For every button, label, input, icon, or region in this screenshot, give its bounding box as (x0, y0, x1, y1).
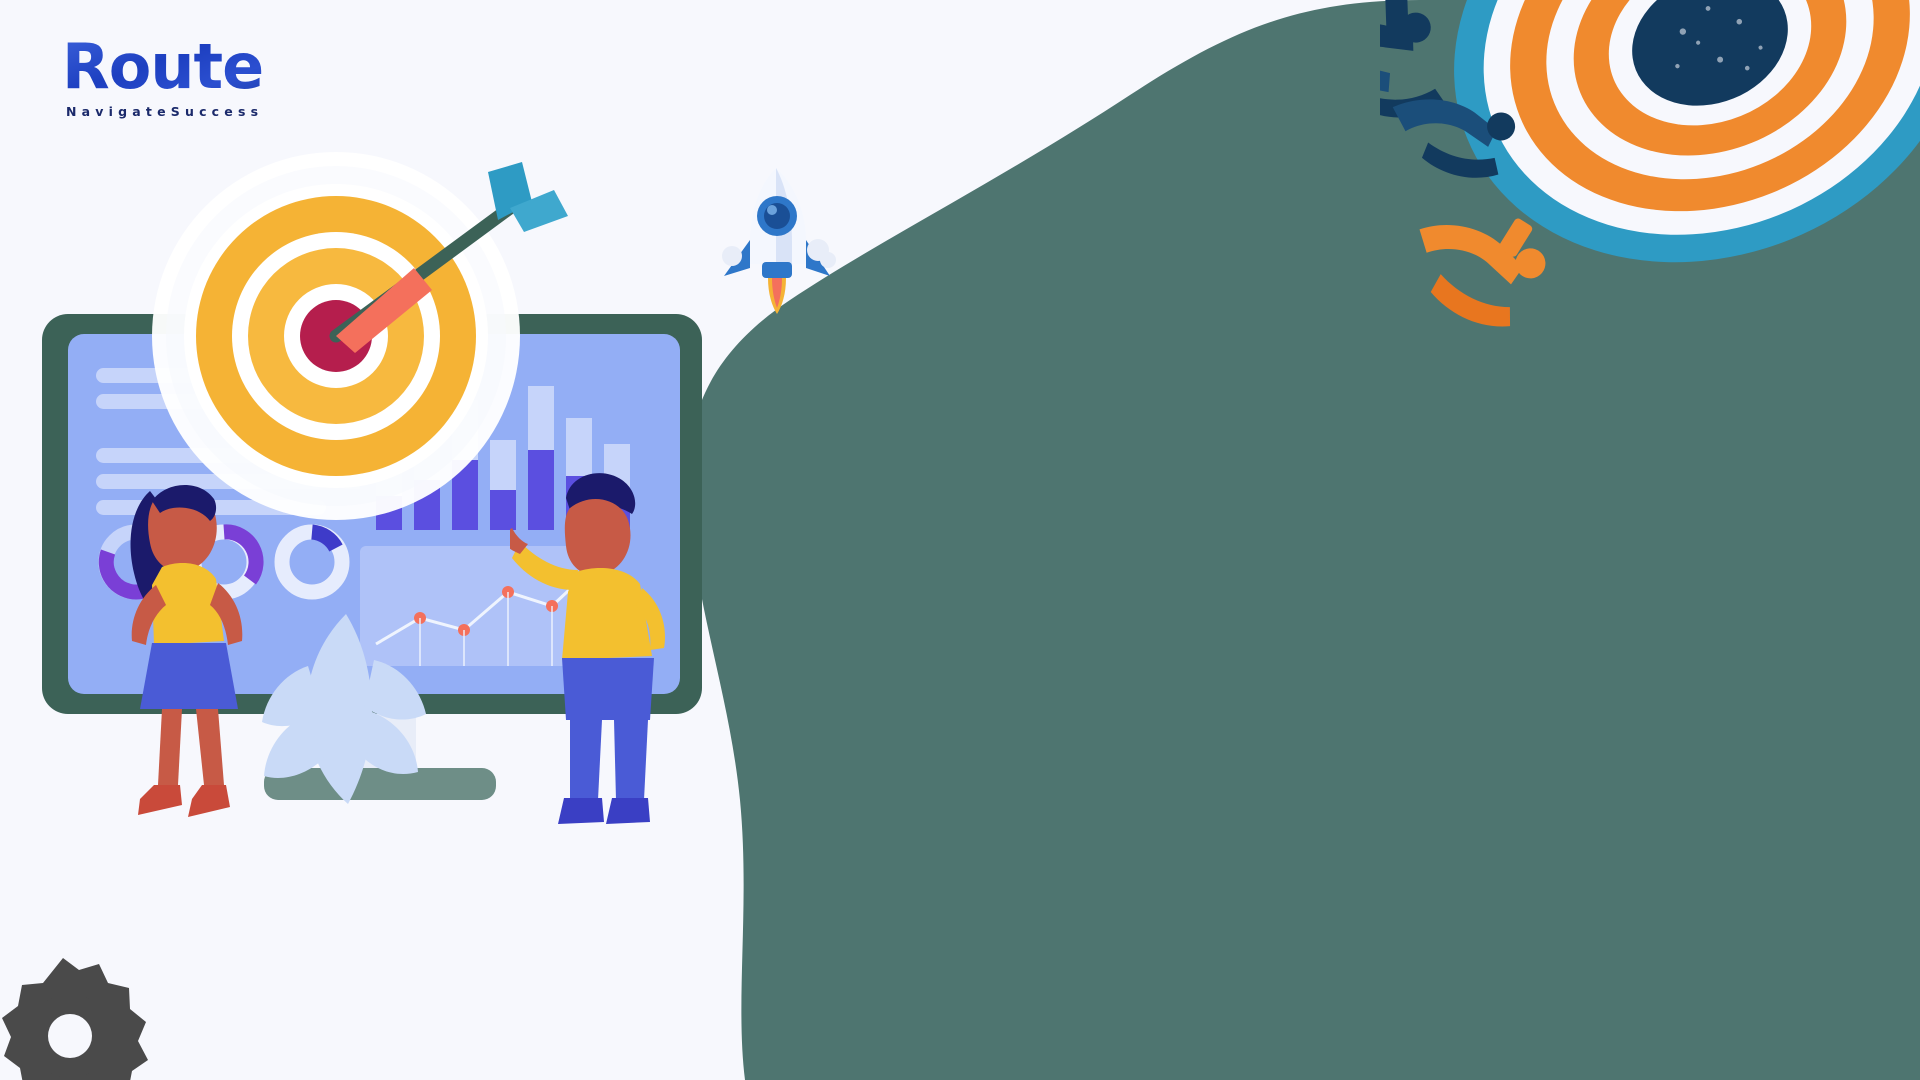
gear-icon (0, 950, 148, 1080)
logo-tagline: NavigateSuccess (66, 104, 362, 119)
leaf-icon (250, 600, 450, 820)
person-woman-illustration (96, 455, 276, 855)
banner-canvas: Route NavigateSuccess دليلك الكامل لتحوي… (0, 0, 1920, 1080)
logo-wordmark: Route (62, 36, 362, 98)
dartboard-skydivers-illustration (1380, 0, 1920, 420)
person-man-illustration (510, 450, 700, 850)
rocket-icon (710, 160, 840, 320)
brand-logo[interactable]: Route NavigateSuccess (62, 36, 362, 119)
